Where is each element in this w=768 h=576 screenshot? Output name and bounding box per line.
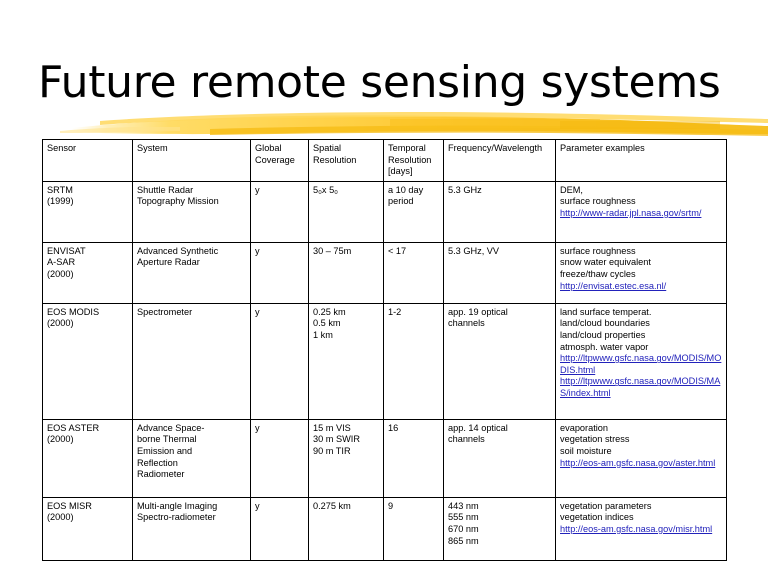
cell-sensor: EOS MISR (2000) xyxy=(43,497,133,560)
parameter-line: surface roughness xyxy=(560,246,723,258)
parameter-line: snow water equivalent xyxy=(560,257,723,269)
cell-parameter-examples: DEM,surface roughnesshttp://www-radar.jp… xyxy=(556,181,727,242)
cell-system: Advanced Synthetic Aperture Radar xyxy=(133,242,251,303)
cell-frequency: 443 nm 555 nm 670 nm 865 nm xyxy=(444,497,556,560)
page-title: Future remote sensing systems xyxy=(38,57,738,109)
table-row: ENVISAT A-SAR (2000) Advanced Synthetic … xyxy=(43,242,727,303)
external-link[interactable]: http://eos-am.gsfc.nasa.gov/misr.html xyxy=(560,524,723,536)
cell-temporal-resolution: < 17 xyxy=(384,242,444,303)
cell-global-coverage: y xyxy=(251,303,309,419)
cell-global-coverage: y xyxy=(251,497,309,560)
parameter-line: surface roughness xyxy=(560,196,723,208)
parameter-line: land/cloud boundaries xyxy=(560,318,723,330)
cell-parameter-examples: surface roughnesssnow water equivalentfr… xyxy=(556,242,727,303)
cell-spatial-resolution: 5₀x 5₀ xyxy=(309,181,384,242)
cell-system: Advance Space- borne Thermal Emission an… xyxy=(133,419,251,497)
table-row: SRTM (1999) Shuttle Radar Topography Mis… xyxy=(43,181,727,242)
cell-system: Shuttle Radar Topography Mission xyxy=(133,181,251,242)
cell-global-coverage: y xyxy=(251,181,309,242)
cell-spatial-resolution: 30 – 75m xyxy=(309,242,384,303)
parameter-line: land/cloud properties xyxy=(560,330,723,342)
cell-temporal-resolution: 1-2 xyxy=(384,303,444,419)
cell-temporal-resolution: 9 xyxy=(384,497,444,560)
parameter-line: freeze/thaw cycles xyxy=(560,269,723,281)
table-row: EOS MODIS (2000) Spectrometer y 0.25 km … xyxy=(43,303,727,419)
parameter-line: DEM, xyxy=(560,185,723,197)
cell-spatial-resolution: 0.25 km 0.5 km 1 km xyxy=(309,303,384,419)
cell-parameter-examples: vegetation parametersvegetation indicesh… xyxy=(556,497,727,560)
cell-parameter-examples: evaporationvegetation stresssoil moistur… xyxy=(556,419,727,497)
col-header-system: System xyxy=(133,140,251,182)
sensors-table: Sensor System Global Coverage Spatial Re… xyxy=(42,139,727,561)
cell-frequency: app. 14 optical channels xyxy=(444,419,556,497)
parameter-line: vegetation parameters xyxy=(560,501,723,513)
parameter-line: evaporation xyxy=(560,423,723,435)
cell-parameter-examples: land surface temperat.land/cloud boundar… xyxy=(556,303,727,419)
cell-temporal-resolution: a 10 day period xyxy=(384,181,444,242)
cell-sensor: EOS MODIS (2000) xyxy=(43,303,133,419)
cell-system: Spectrometer xyxy=(133,303,251,419)
col-header-frequency-wavelength: Frequency/Wavelength xyxy=(444,140,556,182)
col-header-parameter-examples: Parameter examples xyxy=(556,140,727,182)
parameter-line: land surface temperat. xyxy=(560,307,723,319)
cell-sensor: SRTM (1999) xyxy=(43,181,133,242)
col-header-temporal-resolution: Temporal Resolution [days] xyxy=(384,140,444,182)
external-link[interactable]: http://envisat.estec.esa.nl/ xyxy=(560,281,723,293)
brush-stroke-accent xyxy=(60,110,768,140)
cell-spatial-resolution: 15 m VIS 30 m SWIR 90 m TIR xyxy=(309,419,384,497)
brush-stroke-svg xyxy=(60,110,768,140)
parameter-line: vegetation indices xyxy=(560,512,723,524)
parameter-line: vegetation stress xyxy=(560,434,723,446)
parameter-line: soil moisture xyxy=(560,446,723,458)
parameter-line: atmosph. water vapor xyxy=(560,342,723,354)
cell-global-coverage: y xyxy=(251,242,309,303)
table-header-row: Sensor System Global Coverage Spatial Re… xyxy=(43,140,727,182)
external-link[interactable]: http://www-radar.jpl.nasa.gov/srtm/ xyxy=(560,208,723,220)
cell-temporal-resolution: 16 xyxy=(384,419,444,497)
slide-canvas: Future remote sensing systems xyxy=(0,0,768,576)
cell-frequency: 5.3 GHz, VV xyxy=(444,242,556,303)
table-row: EOS ASTER (2000) Advance Space- borne Th… xyxy=(43,419,727,497)
external-link[interactable]: http://ltpwww.gsfc.nasa.gov/MODIS/MODIS.… xyxy=(560,353,723,376)
cell-spatial-resolution: 0.275 km xyxy=(309,497,384,560)
cell-sensor: EOS ASTER (2000) xyxy=(43,419,133,497)
col-header-global-coverage: Global Coverage xyxy=(251,140,309,182)
external-link[interactable]: http://ltpwww.gsfc.nasa.gov/MODIS/MAS/in… xyxy=(560,376,723,399)
col-header-sensor: Sensor xyxy=(43,140,133,182)
cell-sensor: ENVISAT A-SAR (2000) xyxy=(43,242,133,303)
sensors-table-wrapper: Sensor System Global Coverage Spatial Re… xyxy=(42,139,726,561)
cell-system: Multi-angle Imaging Spectro-radiometer xyxy=(133,497,251,560)
col-header-spatial-resolution: Spatial Resolution xyxy=(309,140,384,182)
table-row: EOS MISR (2000) Multi-angle Imaging Spec… xyxy=(43,497,727,560)
cell-frequency: app. 19 optical channels xyxy=(444,303,556,419)
cell-global-coverage: y xyxy=(251,419,309,497)
cell-frequency: 5.3 GHz xyxy=(444,181,556,242)
external-link[interactable]: http://eos-am.gsfc.nasa.gov/aster.html xyxy=(560,458,723,470)
